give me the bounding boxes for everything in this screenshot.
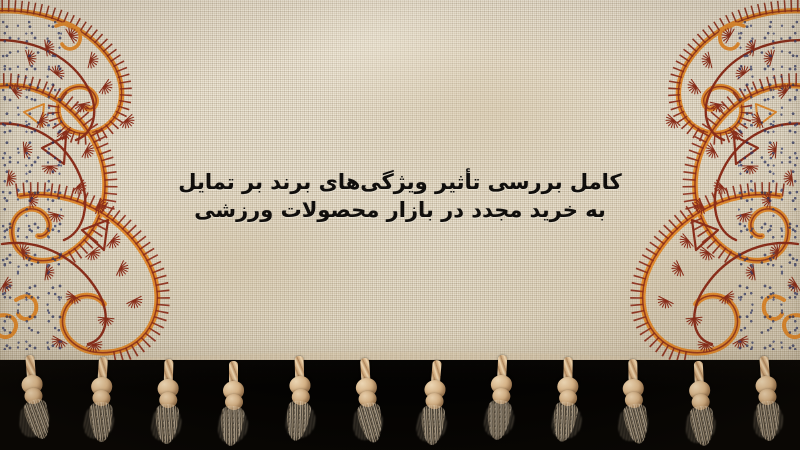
navy-speckle-right [738, 20, 800, 350]
navy-speckle-left [0, 20, 62, 350]
tassel [413, 359, 454, 450]
tassel [216, 361, 250, 450]
tassel [481, 354, 519, 450]
tassel-fringe [0, 352, 800, 450]
linen-fabric-background [0, 0, 800, 372]
tassel [80, 356, 120, 450]
tassel-skirt [550, 400, 579, 443]
tassel-skirt [284, 399, 312, 442]
tassel [282, 355, 319, 450]
tassel [681, 360, 719, 450]
tassel [549, 357, 585, 450]
title-card: کامل بررسی تأثیر ویژگی‌های برند بر تمایل… [0, 0, 800, 450]
tassel [13, 354, 54, 450]
tassel [148, 358, 185, 450]
tassel [347, 357, 387, 450]
tassel [616, 359, 652, 450]
tassel [746, 355, 787, 450]
